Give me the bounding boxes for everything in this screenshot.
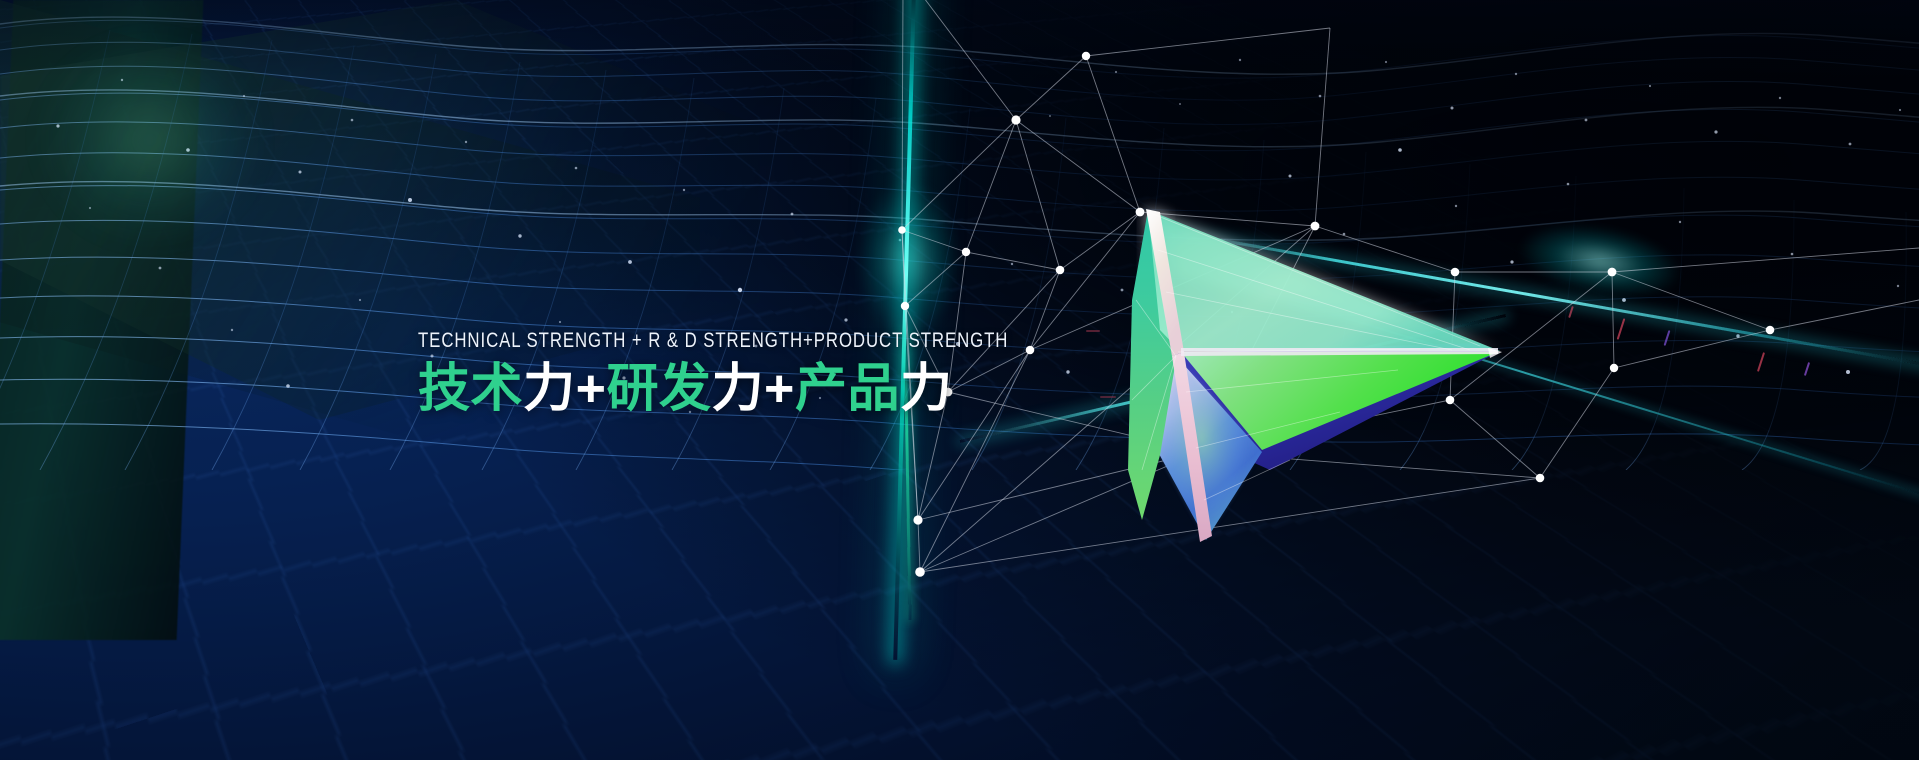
lens-flare <box>1484 198 1716 325</box>
accent-speck <box>1664 330 1671 346</box>
headline-chinese-segment-1: 力 <box>523 360 576 418</box>
accent-speck <box>1804 362 1810 376</box>
headline-chinese-segment-3: 研发 <box>606 360 711 418</box>
backdrop-slab-wide <box>0 0 700 520</box>
hero-banner: TECHNICAL STRENGTH + R & D STRENGTH+PROD… <box>0 0 1919 760</box>
backdrop-slab <box>0 0 203 640</box>
headline-chinese-segment-5: + <box>764 360 795 418</box>
headline-chinese-segment-7: 力 <box>900 360 953 418</box>
headline-eyebrow: TECHNICAL STRENGTH + R & D STRENGTH+PROD… <box>418 330 1008 352</box>
accent-speck <box>1617 318 1626 340</box>
headline-chinese-segment-4: 力 <box>712 360 765 418</box>
headline-chinese-segment-2: + <box>576 360 607 418</box>
headline-chinese-segment-6: 产品 <box>795 360 900 418</box>
headline-chinese-segment-0: 技术 <box>418 360 523 418</box>
headline-chinese: 技术力+研发力+产品力 <box>418 360 1156 418</box>
accent-speck <box>1757 352 1765 372</box>
headline-block: TECHNICAL STRENGTH + R & D STRENGTH+PROD… <box>418 330 1156 418</box>
accent-speck <box>1568 306 1574 318</box>
prism-glow <box>0 0 300 280</box>
cyan-light-beam-diagonal-right-2 <box>1290 300 1919 507</box>
